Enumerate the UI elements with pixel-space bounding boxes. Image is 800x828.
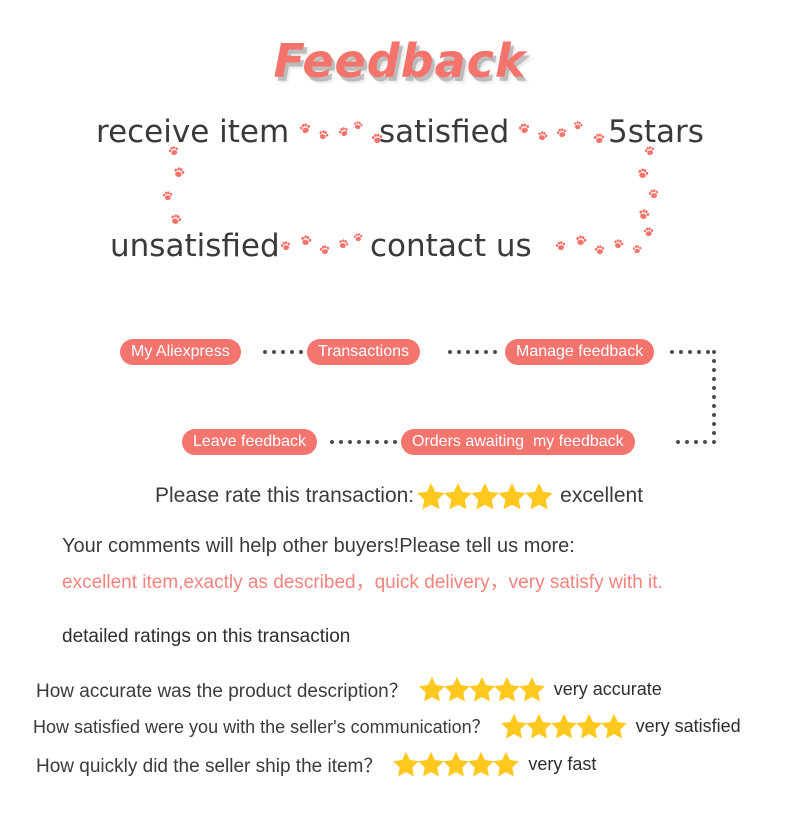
detail-rating-answer: very satisfied xyxy=(636,716,741,737)
connector-dot xyxy=(679,350,683,354)
detail-rating-answer: very accurate xyxy=(554,679,662,700)
star-icon xyxy=(600,712,628,740)
connector-dot xyxy=(384,440,388,444)
detail-rating-stars[interactable] xyxy=(392,750,520,778)
connector-dot xyxy=(712,404,716,408)
star-icon xyxy=(550,712,578,740)
star-icon xyxy=(417,750,445,778)
connector-dot xyxy=(712,395,716,399)
connector-dot xyxy=(475,350,479,354)
detail-rating-row: How accurate was the product description… xyxy=(36,675,662,703)
connector-dot xyxy=(366,440,370,444)
breadcrumb-step-transactions[interactable]: Transactions xyxy=(307,339,420,365)
connector-dot xyxy=(272,350,276,354)
star-icon xyxy=(497,481,527,511)
connector-dot xyxy=(457,350,461,354)
rating-stars[interactable] xyxy=(416,481,554,511)
paw-print-icon xyxy=(352,119,364,131)
detail-rating-row: How quickly did the seller ship the item… xyxy=(36,750,596,778)
detail-rating-answer: very fast xyxy=(528,754,596,775)
detail-rating-stars[interactable] xyxy=(418,675,546,703)
paw-print-icon xyxy=(536,129,549,142)
connector-dot xyxy=(348,440,352,444)
star-icon xyxy=(493,675,521,703)
detail-rating-question: How satisfied were you with the seller's… xyxy=(33,713,490,739)
connector-dot xyxy=(263,350,267,354)
paw-flow-diagram: receive item satisfied 5stars unsatisfie… xyxy=(0,100,800,280)
star-icon xyxy=(467,750,495,778)
paw-print-icon xyxy=(592,131,606,145)
rating-word-label: excellent xyxy=(560,484,643,508)
transaction-rating-row: Please rate this transaction: excellent xyxy=(155,481,643,511)
connector-dot xyxy=(670,350,674,354)
connector-dot xyxy=(393,440,397,444)
star-icon xyxy=(470,481,500,511)
paw-print-icon xyxy=(336,124,351,139)
paw-print-icon xyxy=(172,165,187,180)
paw-print-icon xyxy=(299,233,313,247)
detail-rating-stars[interactable] xyxy=(500,712,628,740)
connector-dot xyxy=(712,350,716,354)
connector-dot xyxy=(685,440,689,444)
detail-rating-question: How accurate was the product description… xyxy=(36,676,408,703)
star-icon xyxy=(468,675,496,703)
paw-print-icon xyxy=(279,239,293,253)
connector-dot xyxy=(493,350,497,354)
paw-print-icon xyxy=(554,239,567,252)
connector-dot xyxy=(688,350,692,354)
paw-print-icon xyxy=(593,243,606,256)
paw-print-icon xyxy=(318,243,331,256)
paw-print-icon xyxy=(352,231,363,242)
paw-print-icon xyxy=(612,237,626,251)
star-icon xyxy=(443,481,473,511)
detail-rating-question: How quickly did the seller ship the item… xyxy=(36,751,382,778)
flow-word-receive-item: receive item xyxy=(96,114,289,150)
paw-print-icon xyxy=(337,237,351,251)
detail-rating-row: How satisfied were you with the seller's… xyxy=(33,712,741,740)
star-icon xyxy=(575,712,603,740)
star-icon xyxy=(442,750,470,778)
connector-dot xyxy=(339,440,343,444)
paw-print-icon xyxy=(161,189,174,202)
star-icon xyxy=(443,675,471,703)
breadcrumb-step-orders-awaiting[interactable]: Orders awaiting my feedback xyxy=(401,429,635,455)
comments-text[interactable]: excellent item,exactly as described，quic… xyxy=(62,567,663,594)
paw-print-icon xyxy=(168,211,183,226)
paw-print-icon xyxy=(554,125,568,139)
flow-word-satisfied: satisfied xyxy=(379,114,509,150)
comments-prompt: Your comments will help other buyers!Ple… xyxy=(62,535,575,558)
star-icon xyxy=(392,750,420,778)
connector-dot xyxy=(703,440,707,444)
connector-dot xyxy=(375,440,379,444)
connector-dot xyxy=(290,350,294,354)
paw-print-icon xyxy=(316,127,330,141)
connector-dot xyxy=(712,368,716,372)
breadcrumb-step-my-aliexpress[interactable]: My Aliexpress xyxy=(120,339,241,365)
paw-print-icon xyxy=(517,121,532,136)
breadcrumb-step-leave-feedback[interactable]: Leave feedback xyxy=(182,429,317,455)
connector-dot xyxy=(712,431,716,435)
flow-word-5stars: 5stars xyxy=(608,114,704,150)
star-icon xyxy=(518,675,546,703)
breadcrumb-flow: My Aliexpress Transactions Manage feedba… xyxy=(0,330,800,465)
connector-dot xyxy=(712,413,716,417)
connector-dot xyxy=(448,350,452,354)
star-icon xyxy=(524,481,554,511)
connector-dot xyxy=(281,350,285,354)
paw-print-icon xyxy=(637,207,652,222)
connector-dot xyxy=(466,350,470,354)
connector-dot xyxy=(694,440,698,444)
star-icon xyxy=(416,481,446,511)
star-icon xyxy=(525,712,553,740)
page-header: Feedback xyxy=(0,34,800,88)
connector-dot xyxy=(712,377,716,381)
rating-prompt-label: Please rate this transaction: xyxy=(155,484,414,508)
paw-print-icon xyxy=(647,187,660,200)
paw-print-icon xyxy=(632,244,643,255)
connector-dot xyxy=(484,350,488,354)
paw-print-icon xyxy=(642,225,654,237)
paw-print-icon xyxy=(574,233,588,247)
detailed-ratings-heading: detailed ratings on this transaction xyxy=(62,626,350,648)
paw-print-icon xyxy=(572,119,584,131)
breadcrumb-step-manage-feedback[interactable]: Manage feedback xyxy=(505,339,654,365)
paw-print-icon xyxy=(370,131,384,145)
star-icon xyxy=(500,712,528,740)
connector-dot xyxy=(357,440,361,444)
connector-dot xyxy=(712,386,716,390)
connector-dot xyxy=(712,422,716,426)
paw-print-icon xyxy=(636,166,650,180)
connector-dot xyxy=(676,440,680,444)
paw-print-icon xyxy=(298,121,313,136)
connector-dot xyxy=(330,440,334,444)
connector-dot xyxy=(712,359,716,363)
connector-dot xyxy=(712,440,716,444)
flow-word-unsatisfied: unsatisfied xyxy=(110,228,280,264)
page-title: Feedback xyxy=(273,34,526,88)
connector-dot xyxy=(697,350,701,354)
flow-word-contact-us: contact us xyxy=(370,228,532,264)
star-icon xyxy=(418,675,446,703)
connector-dot xyxy=(299,350,303,354)
connector-dot xyxy=(706,350,710,354)
star-icon xyxy=(492,750,520,778)
